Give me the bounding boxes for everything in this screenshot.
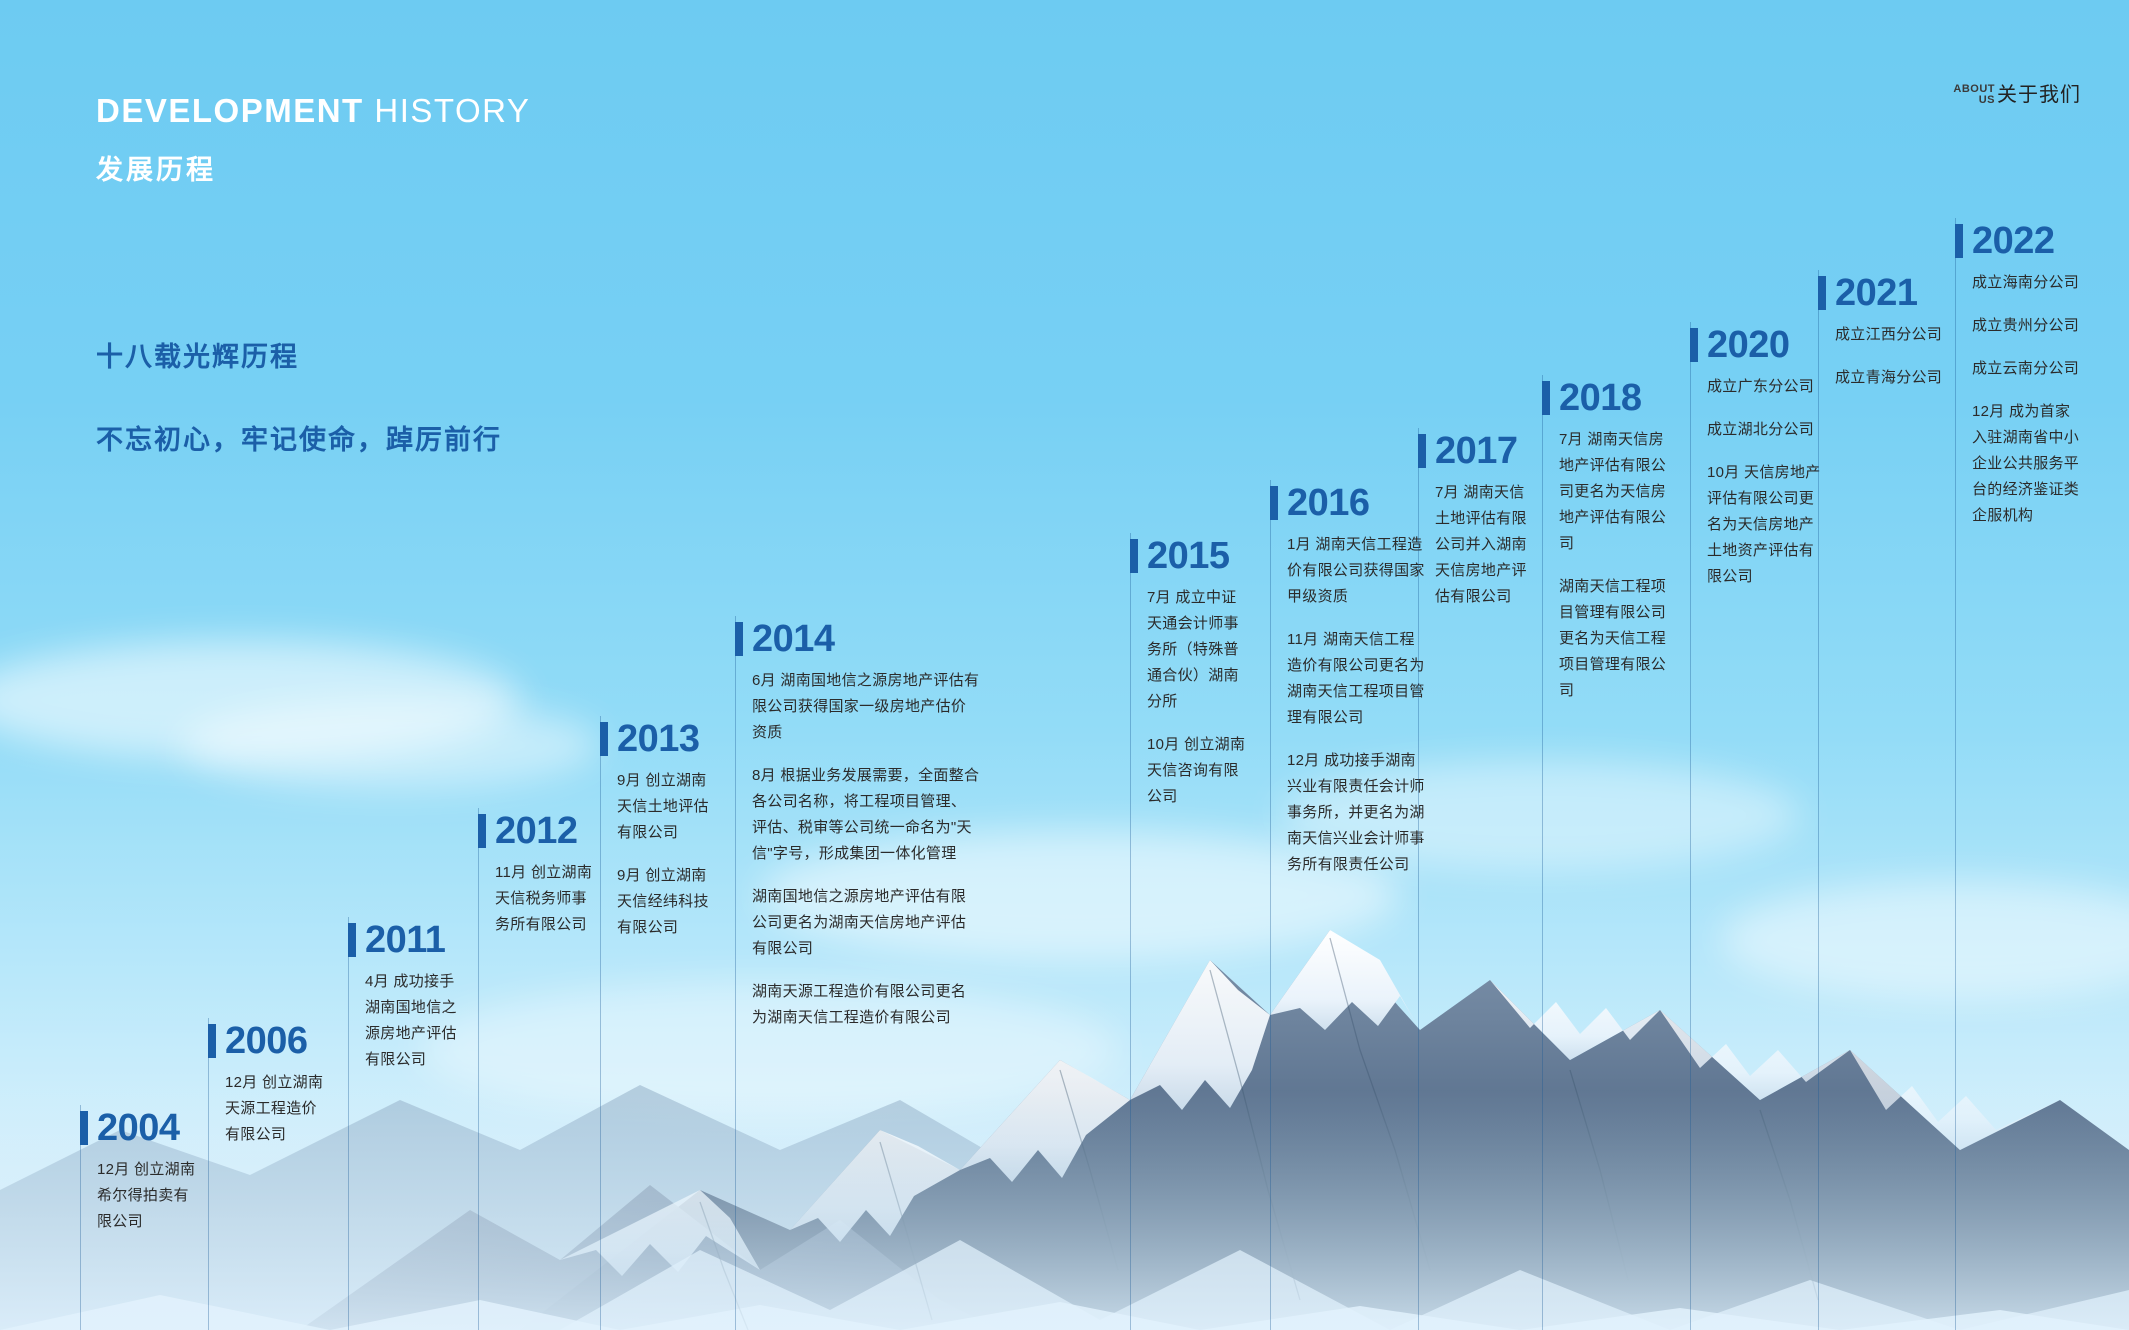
timeline-entry-2004: 200412月 创立湖南希尔得拍卖有限公司 bbox=[80, 1105, 200, 1235]
timeline-year-label: 2017 bbox=[1435, 432, 1518, 470]
timeline-event-list: 4月 成功接手湖南国地信之源房地产评估有限公司 bbox=[348, 963, 468, 1073]
slogan-line-2: 不忘初心，牢记使命，踔厉前行 bbox=[96, 418, 502, 457]
timeline-year-header: 2006 bbox=[208, 1018, 328, 1064]
timeline-event-list: 11月 创立湖南天信税务师事务所有限公司 bbox=[478, 854, 598, 938]
timeline-tick-marker bbox=[208, 1024, 216, 1058]
timeline-vertical-rule bbox=[1955, 218, 1956, 1330]
timeline-event-text: 11月 湖南天信工程造价有限公司更名为湖南天信工程项目管理有限公司 bbox=[1287, 627, 1425, 731]
timeline-entry-2015: 20157月 成立中证天通会计师事务所（特殊普通合伙）湖南分所10月 创立湖南天… bbox=[1130, 533, 1250, 810]
timeline-year-label: 2011 bbox=[365, 921, 445, 959]
timeline-entry-2021: 2021成立江西分公司成立青海分公司 bbox=[1818, 270, 1951, 391]
timeline-year-header: 2011 bbox=[348, 917, 468, 963]
timeline-year-header: 2018 bbox=[1542, 375, 1675, 421]
timeline-year-header: 2004 bbox=[80, 1105, 200, 1151]
page-title-cn: 发展历程 bbox=[96, 148, 530, 187]
timeline-year-label: 2020 bbox=[1707, 326, 1790, 364]
timeline-event-text: 成立广东分公司 bbox=[1707, 374, 1823, 400]
timeline-tick-marker bbox=[600, 722, 608, 756]
timeline-vertical-rule bbox=[1818, 270, 1819, 1330]
timeline-vertical-rule bbox=[1130, 533, 1131, 1330]
timeline-event-text: 12月 成为首家入驻湖南省中小企业公共服务平台的经济鉴证类企服机构 bbox=[1972, 399, 2080, 529]
timeline-event-text: 10月 天信房地产评估有限公司更名为天信房地产土地资产评估有限公司 bbox=[1707, 460, 1823, 590]
timeline-year-header: 2020 bbox=[1690, 322, 1823, 368]
timeline-vertical-rule bbox=[478, 808, 479, 1330]
timeline-event-list: 12月 创立湖南希尔得拍卖有限公司 bbox=[80, 1151, 200, 1235]
timeline-event-text: 9月 创立湖南天信经纬科技有限公司 bbox=[617, 863, 720, 941]
timeline-event-text: 1月 湖南天信工程造价有限公司获得国家甲级资质 bbox=[1287, 532, 1425, 610]
timeline-year-header: 2016 bbox=[1270, 480, 1425, 526]
timeline-year-header: 2022 bbox=[1955, 218, 2080, 264]
timeline-event-text: 湖南天源工程造价有限公司更名为湖南天信工程造价有限公司 bbox=[752, 979, 980, 1031]
timeline-year-label: 2018 bbox=[1559, 379, 1642, 417]
timeline-entry-2006: 200612月 创立湖南天源工程造价有限公司 bbox=[208, 1018, 328, 1148]
timeline-event-text: 成立湖北分公司 bbox=[1707, 417, 1823, 443]
timeline-entry-2020: 2020成立广东分公司成立湖北分公司10月 天信房地产评估有限公司更名为天信房地… bbox=[1690, 322, 1823, 590]
timeline-event-list: 7月 成立中证天通会计师事务所（特殊普通合伙）湖南分所10月 创立湖南天信咨询有… bbox=[1130, 579, 1250, 810]
timeline-vertical-rule bbox=[1542, 375, 1543, 1330]
timeline-year-label: 2004 bbox=[97, 1109, 180, 1147]
timeline-year-header: 2013 bbox=[600, 716, 720, 762]
timeline-tick-marker bbox=[1690, 328, 1698, 362]
timeline-event-text: 成立青海分公司 bbox=[1835, 365, 1951, 391]
page-title-en-bold: DEVELOPMENT bbox=[96, 92, 364, 129]
timeline-vertical-rule bbox=[1270, 480, 1271, 1330]
timeline-event-list: 9月 创立湖南天信土地评估有限公司9月 创立湖南天信经纬科技有限公司 bbox=[600, 762, 720, 941]
page-header: DEVELOPMENT HISTORY 发展历程 bbox=[96, 92, 530, 187]
timeline-event-list: 1月 湖南天信工程造价有限公司获得国家甲级资质11月 湖南天信工程造价有限公司更… bbox=[1270, 526, 1425, 878]
timeline-event-list: 6月 湖南国地信之源房地产评估有限公司获得国家一级房地产估价资质8月 根据业务发… bbox=[735, 662, 980, 1031]
timeline-vertical-rule bbox=[735, 616, 736, 1330]
timeline-event-text: 10月 创立湖南天信咨询有限公司 bbox=[1147, 732, 1250, 810]
timeline-entry-2012: 201211月 创立湖南天信税务师事务所有限公司 bbox=[478, 808, 598, 938]
timeline-event-text: 12月 创立湖南希尔得拍卖有限公司 bbox=[97, 1157, 200, 1235]
about-us-label: ABOUT US 关于我们 bbox=[1953, 78, 2081, 107]
timeline-event-text: 4月 成功接手湖南国地信之源房地产评估有限公司 bbox=[365, 969, 468, 1073]
timeline-event-list: 7月 湖南天信土地评估有限公司并入湖南天信房地产评估有限公司 bbox=[1418, 474, 1538, 610]
timeline-entry-2017: 20177月 湖南天信土地评估有限公司并入湖南天信房地产评估有限公司 bbox=[1418, 428, 1538, 610]
timeline-event-text: 湖南天信工程项目管理有限公司更名为天信工程项目管理有限公司 bbox=[1559, 574, 1675, 704]
timeline-year-label: 2013 bbox=[617, 720, 700, 758]
timeline-event-text: 12月 创立湖南天源工程造价有限公司 bbox=[225, 1070, 328, 1148]
timeline-year-header: 2021 bbox=[1818, 270, 1951, 316]
timeline-year-label: 2021 bbox=[1835, 274, 1918, 312]
timeline-year-label: 2012 bbox=[495, 812, 578, 850]
timeline-vertical-rule bbox=[1690, 322, 1691, 1330]
timeline-year-header: 2012 bbox=[478, 808, 598, 854]
timeline-event-text: 成立贵州分公司 bbox=[1972, 313, 2080, 339]
about-us-en: ABOUT US bbox=[1953, 84, 1995, 107]
timeline-event-list: 7月 湖南天信房地产评估有限公司更名为天信房地产评估有限公司湖南天信工程项目管理… bbox=[1542, 421, 1675, 704]
timeline-tick-marker bbox=[735, 622, 743, 656]
timeline-vertical-rule bbox=[208, 1018, 209, 1330]
slogan-line-1: 十八载光辉历程 bbox=[96, 335, 502, 374]
timeline-year-label: 2016 bbox=[1287, 484, 1370, 522]
page-title-en: DEVELOPMENT HISTORY bbox=[96, 92, 530, 130]
timeline-tick-marker bbox=[1818, 276, 1826, 310]
timeline-event-list: 成立江西分公司成立青海分公司 bbox=[1818, 316, 1951, 391]
timeline-event-text: 湖南国地信之源房地产评估有限公司更名为湖南天信房地产评估有限公司 bbox=[752, 884, 980, 962]
slogan-block: 十八载光辉历程 不忘初心，牢记使命，踔厉前行 bbox=[96, 335, 502, 457]
timeline-tick-marker bbox=[1955, 224, 1963, 258]
timeline-event-text: 7月 湖南天信土地评估有限公司并入湖南天信房地产评估有限公司 bbox=[1435, 480, 1538, 610]
timeline-tick-marker bbox=[1130, 539, 1138, 573]
timeline-tick-marker bbox=[80, 1111, 88, 1145]
timeline-event-list: 12月 创立湖南天源工程造价有限公司 bbox=[208, 1064, 328, 1148]
timeline-tick-marker bbox=[348, 923, 356, 957]
timeline-event-text: 7月 成立中证天通会计师事务所（特殊普通合伙）湖南分所 bbox=[1147, 585, 1250, 715]
timeline-year-label: 2014 bbox=[752, 620, 835, 658]
timeline-year-header: 2015 bbox=[1130, 533, 1250, 579]
timeline-event-text: 成立江西分公司 bbox=[1835, 322, 1951, 348]
timeline-entry-2022: 2022成立海南分公司成立贵州分公司成立云南分公司12月 成为首家入驻湖南省中小… bbox=[1955, 218, 2080, 529]
timeline-vertical-rule bbox=[600, 716, 601, 1330]
timeline-event-text: 成立云南分公司 bbox=[1972, 356, 2080, 382]
timeline-entry-2011: 20114月 成功接手湖南国地信之源房地产评估有限公司 bbox=[348, 917, 468, 1073]
timeline-year-label: 2022 bbox=[1972, 222, 2055, 260]
timeline-event-text: 成立海南分公司 bbox=[1972, 270, 2080, 296]
timeline-year-label: 2006 bbox=[225, 1022, 308, 1060]
timeline-entry-2016: 20161月 湖南天信工程造价有限公司获得国家甲级资质11月 湖南天信工程造价有… bbox=[1270, 480, 1425, 878]
timeline-event-text: 12月 成功接手湖南兴业有限责任会计师事务所，并更名为湖南天信兴业会计师事务所有… bbox=[1287, 748, 1425, 878]
timeline-event-text: 8月 根据业务发展需要，全面整合各公司名称，将工程项目管理、评估、税审等公司统一… bbox=[752, 763, 980, 867]
timeline-year-header: 2017 bbox=[1418, 428, 1538, 474]
timeline-year-header: 2014 bbox=[735, 616, 980, 662]
about-us-en-line2: US bbox=[1953, 95, 1995, 106]
timeline-event-text: 7月 湖南天信房地产评估有限公司更名为天信房地产评估有限公司 bbox=[1559, 427, 1675, 557]
timeline-event-list: 成立广东分公司成立湖北分公司10月 天信房地产评估有限公司更名为天信房地产土地资… bbox=[1690, 368, 1823, 590]
timeline-tick-marker bbox=[1418, 434, 1426, 468]
timeline-event-list: 成立海南分公司成立贵州分公司成立云南分公司12月 成为首家入驻湖南省中小企业公共… bbox=[1955, 264, 2080, 529]
timeline-tick-marker bbox=[1270, 486, 1278, 520]
timeline-entry-2018: 20187月 湖南天信房地产评估有限公司更名为天信房地产评估有限公司湖南天信工程… bbox=[1542, 375, 1675, 704]
timeline-entry-2013: 20139月 创立湖南天信土地评估有限公司9月 创立湖南天信经纬科技有限公司 bbox=[600, 716, 720, 941]
timeline-event-text: 6月 湖南国地信之源房地产评估有限公司获得国家一级房地产估价资质 bbox=[752, 668, 980, 746]
timeline: 200412月 创立湖南希尔得拍卖有限公司200612月 创立湖南天源工程造价有… bbox=[0, 0, 2129, 1330]
timeline-tick-marker bbox=[1542, 381, 1550, 415]
timeline-vertical-rule bbox=[348, 917, 349, 1330]
timeline-year-label: 2015 bbox=[1147, 537, 1230, 575]
timeline-vertical-rule bbox=[1418, 428, 1419, 1330]
timeline-entry-2014: 20146月 湖南国地信之源房地产评估有限公司获得国家一级房地产估价资质8月 根… bbox=[735, 616, 980, 1031]
page-title-en-light: HISTORY bbox=[374, 92, 530, 129]
about-us-cn: 关于我们 bbox=[1997, 78, 2081, 107]
timeline-event-text: 9月 创立湖南天信土地评估有限公司 bbox=[617, 768, 720, 846]
timeline-event-text: 11月 创立湖南天信税务师事务所有限公司 bbox=[495, 860, 598, 938]
timeline-tick-marker bbox=[478, 814, 486, 848]
